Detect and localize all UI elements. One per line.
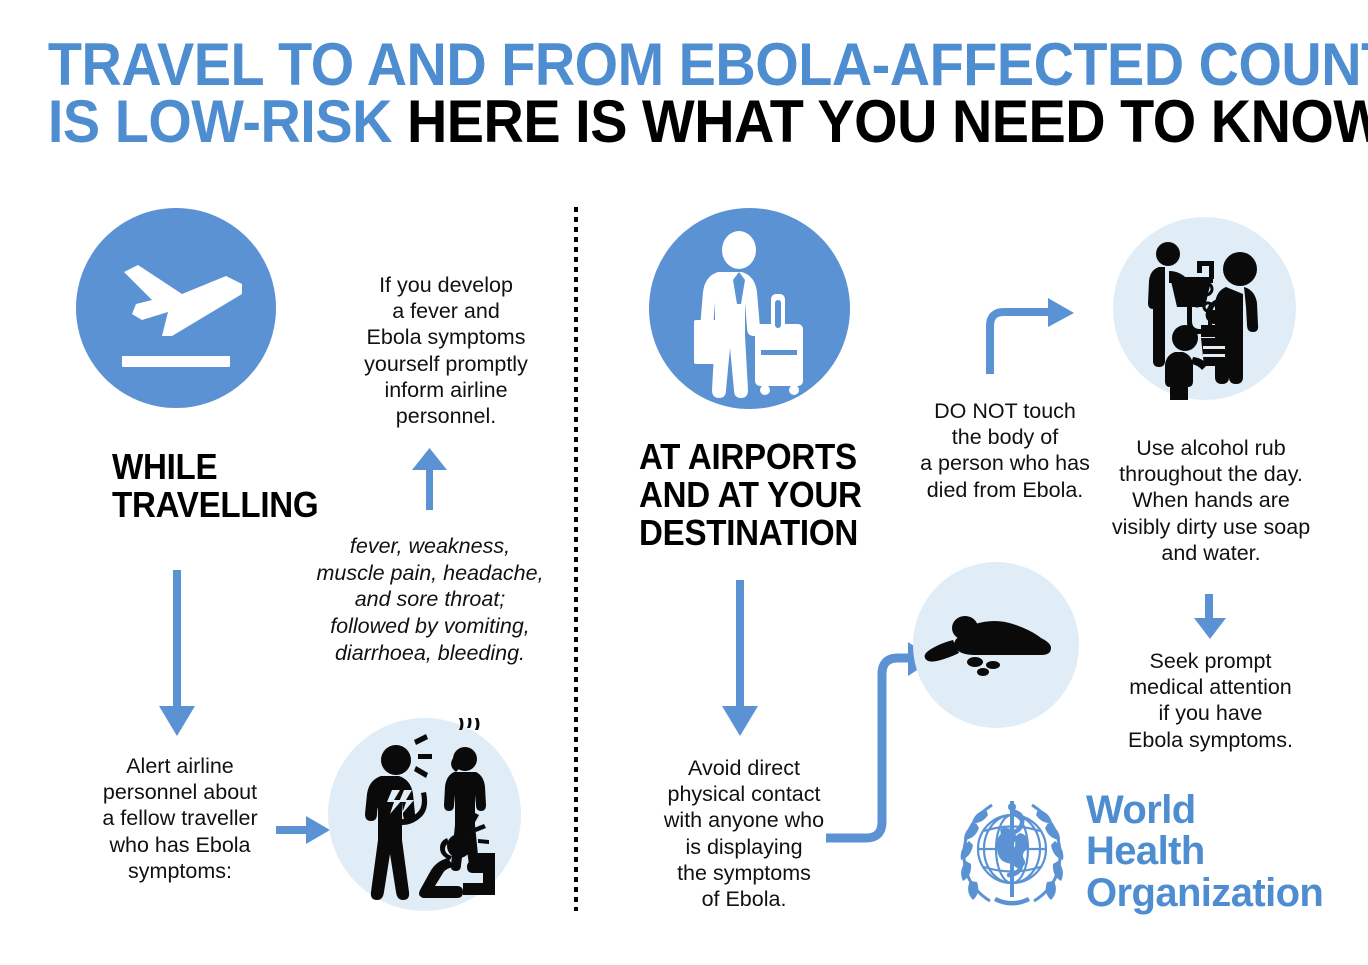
infographic-canvas: TRAVEL TO AND FROM EBOLA-AFFECTED COUNTR… — [0, 0, 1368, 965]
title-line-2-blue: IS LOW-RISK — [48, 88, 392, 155]
arrow-down-to-seek-medical — [1182, 594, 1238, 640]
airplane-takeoff-icon — [76, 208, 276, 408]
traveller-with-luggage-icon — [649, 208, 850, 409]
section-heading-while-travelling: WHILE TRAVELLING — [112, 448, 372, 524]
heading-line-1: AT AIRPORTS — [639, 438, 915, 476]
arrow-down-at-airports — [711, 580, 771, 740]
who-wordmark-line-2: Organization — [1086, 873, 1323, 914]
section-heading-at-airports: AT AIRPORTS AND AT YOUR DESTINATION — [639, 438, 939, 552]
text-inform-airline-personnel: If you develop a fever and Ebola symptom… — [336, 272, 556, 429]
heading-line-1: WHILE — [112, 448, 351, 486]
ebola-symptoms-pictograms — [328, 718, 521, 911]
vertical-dotted-divider — [574, 207, 578, 911]
arrow-right-to-symptoms — [276, 812, 332, 848]
text-seek-medical-attention: Seek prompt medical attention if you hav… — [1103, 648, 1318, 753]
heading-line-3: DESTINATION — [639, 514, 915, 552]
who-wordmark: World Health Organization — [1086, 790, 1323, 914]
arrow-up-to-inform-text — [400, 448, 460, 510]
text-symptoms-list: fever, weakness, muscle pain, headache, … — [316, 533, 544, 666]
who-logo: World Health Organization — [952, 792, 1312, 912]
page-title: TRAVEL TO AND FROM EBOLA-AFFECTED COUNTR… — [0, 36, 1368, 150]
text-do-not-touch-body: DO NOT touch the body of a person who ha… — [910, 398, 1100, 503]
title-line-1: TRAVEL TO AND FROM EBOLA-AFFECTED COUNTR… — [48, 36, 1320, 93]
heading-line-2: TRAVELLING — [112, 486, 351, 524]
deceased-person-pictogram — [913, 562, 1079, 728]
title-line-2: IS LOW-RISK HERE IS WHAT YOU NEED TO KNO… — [48, 93, 1320, 150]
title-line-2-black: HERE IS WHAT YOU NEED TO KNOW — [407, 88, 1368, 155]
who-emblem — [952, 793, 1072, 911]
handwashing-pictograms — [1113, 217, 1296, 400]
text-avoid-direct-contact: Avoid direct physical contact with anyon… — [646, 755, 842, 912]
text-use-alcohol-rub: Use alcohol rub throughout the day. When… — [1100, 435, 1322, 566]
arrow-elbow-to-handwashing — [982, 296, 1078, 376]
text-alert-airline-personnel: Alert airline personnel about a fellow t… — [84, 753, 276, 884]
heading-line-2: AND AT YOUR — [639, 476, 915, 514]
who-wordmark-line-1: World Health — [1086, 790, 1323, 872]
arrow-down-while-travelling — [148, 570, 208, 740]
